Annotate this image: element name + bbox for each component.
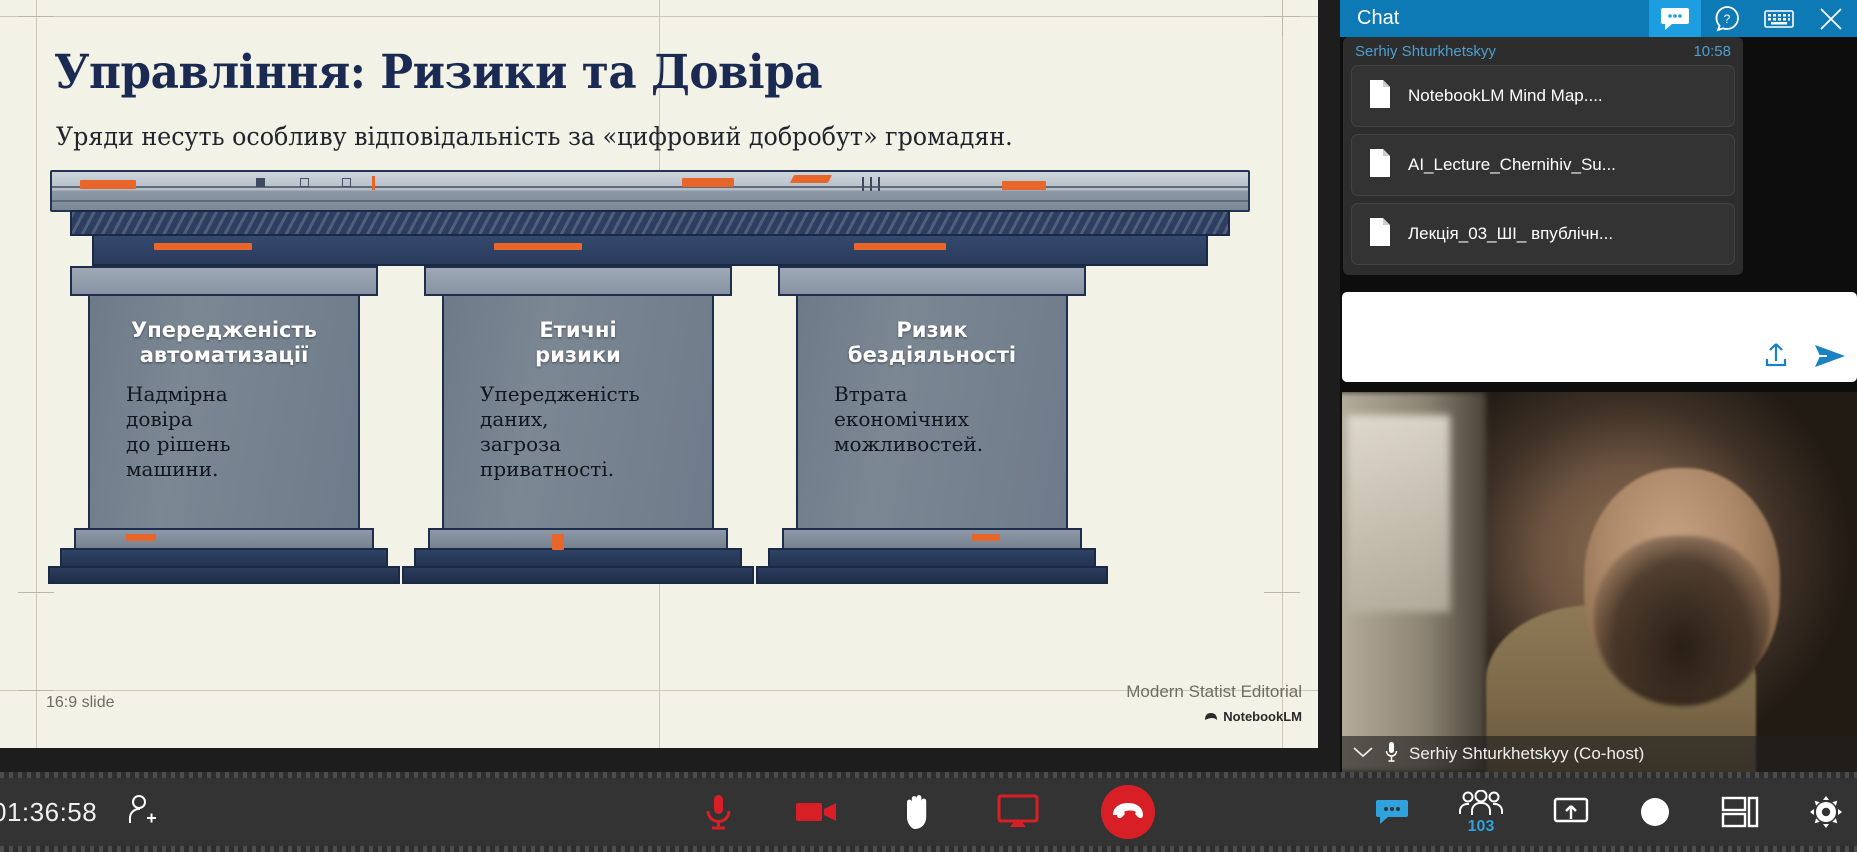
chat-input-box[interactable]: [1342, 292, 1857, 382]
keyboard-icon[interactable]: [1753, 0, 1805, 37]
guide-line: [0, 690, 1318, 691]
guide-line: [36, 0, 37, 748]
chat-icon: [1375, 798, 1409, 826]
file-attachment[interactable]: Лекція_03_ШІ_ впублічн...: [1351, 203, 1735, 265]
architrave-lower: [92, 234, 1208, 266]
shared-screen-stage[interactable]: Управління: Ризики та Довіра Уряди несут…: [0, 0, 1340, 772]
screen-share-button[interactable]: [997, 794, 1039, 830]
chat-panel-header: Chat ?: [1340, 0, 1857, 37]
record-icon: [1639, 796, 1671, 828]
pillar-inaction-risk: Ризикбездіяльності Втратаекономічнихможл…: [796, 266, 1068, 584]
pillar-heading: Ризикбездіяльності: [796, 318, 1068, 368]
meeting-window: Управління: Ризики та Довіра Уряди несут…: [0, 0, 1857, 852]
settings-gear-icon: [1809, 795, 1843, 829]
video-person-beard: [1594, 536, 1770, 706]
help-glyph: ?: [1713, 5, 1741, 33]
upload-glyph: [1761, 341, 1791, 371]
notebooklm-watermark: NotebookLM: [1204, 709, 1302, 724]
notebooklm-label: NotebookLM: [1223, 709, 1302, 724]
pillar-ethical-risks: Етичніризики Упередженістьданих,загрозап…: [442, 266, 714, 584]
camera-icon: [795, 798, 839, 826]
document-icon: [1368, 217, 1392, 252]
participants-icon: [1459, 790, 1503, 818]
slide-title: Управління: Ризики та Довіра: [54, 45, 822, 100]
microphone-glyph: [1384, 741, 1399, 763]
chat-button[interactable]: [1375, 798, 1409, 826]
participants-button[interactable]: 103: [1459, 790, 1503, 834]
guide-tick: [18, 690, 54, 691]
send-glyph: [1813, 342, 1847, 370]
architrave-band: [70, 210, 1230, 236]
microphone-icon[interactable]: [1384, 741, 1399, 768]
layout-button[interactable]: [1721, 796, 1759, 828]
file-name: NotebookLM Mind Map....: [1408, 86, 1603, 106]
settings-button[interactable]: [1809, 795, 1843, 829]
end-call-icon: [1111, 801, 1145, 823]
guide-line: [1282, 0, 1283, 748]
guide-tick: [1282, 0, 1283, 36]
entablature: [50, 170, 1250, 212]
share-button[interactable]: [1553, 797, 1589, 827]
help-icon[interactable]: ?: [1701, 0, 1753, 37]
toolbar-right-group: 103: [1375, 772, 1843, 852]
video-name-bar: Serhiy Shturkhetskyy (Co-host): [1342, 736, 1857, 772]
guide-tick: [18, 16, 54, 17]
close-glyph: [1818, 6, 1844, 32]
meeting-toolbar: 01:36:58: [0, 772, 1857, 852]
participant-name: Serhiy Shturkhetskyy (Co-host): [1409, 744, 1644, 764]
upload-icon[interactable]: [1761, 341, 1791, 376]
chat-bubble-glyph: [1660, 6, 1690, 32]
send-icon[interactable]: [1813, 342, 1847, 375]
microphone-button[interactable]: [703, 792, 733, 832]
participants-count: 103: [1468, 820, 1495, 834]
file-name: AI_Lecture_Chernihiv_Su...: [1408, 155, 1616, 175]
slide-footer-right: Modern Statist Editorial: [1126, 682, 1302, 702]
layout-icon: [1721, 796, 1759, 828]
camera-button[interactable]: [795, 798, 839, 826]
document-icon: [1368, 79, 1392, 114]
share-icon: [1553, 797, 1589, 827]
file-attachment[interactable]: NotebookLM Mind Map....: [1351, 65, 1735, 127]
record-button[interactable]: [1639, 796, 1671, 828]
pillar-body: Втратаекономічнихможливостей.: [796, 382, 1068, 457]
temple-illustration: Упередженістьавтоматизації Надмірнадовір…: [40, 170, 1270, 650]
pillar-heading: Етичніризики: [442, 318, 714, 368]
message-time: 10:58: [1693, 43, 1731, 60]
raise-hand-icon: [901, 793, 935, 831]
raise-hand-button[interactable]: [901, 793, 935, 831]
slide-subtitle: Уряди несуть особливу відповідальність з…: [56, 122, 1013, 151]
chat-bubble-icon[interactable]: [1649, 0, 1701, 37]
svg-text:?: ?: [1724, 12, 1731, 26]
file-name: Лекція_03_ШІ_ впублічн...: [1408, 224, 1613, 244]
guide-line: [0, 16, 1318, 17]
microphone-icon: [703, 792, 733, 832]
presentation-slide: Управління: Ризики та Довіра Уряди несут…: [0, 0, 1318, 748]
file-attachment[interactable]: AI_Lecture_Chernihiv_Su...: [1351, 134, 1735, 196]
notebooklm-icon: [1204, 711, 1218, 723]
pillar-body: Упередженістьданих,загрозаприватності.: [442, 382, 714, 482]
document-icon: [1368, 148, 1392, 183]
slide-footer-left: 16:9 slide: [46, 694, 115, 712]
close-icon[interactable]: [1805, 0, 1857, 37]
chat-compose-area: [1340, 287, 1857, 387]
guide-tick: [1264, 16, 1300, 17]
chevron-down-icon[interactable]: [1352, 745, 1374, 764]
pillar-automation-bias: Упередженістьавтоматизації Надмірнадовір…: [88, 266, 360, 584]
chevron-down-glyph: [1352, 745, 1374, 759]
pillar-body: Надмірнадовірадо рішеньмашини.: [88, 382, 360, 482]
chat-message-list[interactable]: Serhiy Shturkhetskyy 10:58 NotebookLM Mi…: [1340, 37, 1857, 287]
video-background-window: [1347, 415, 1450, 613]
participant-video-tile[interactable]: Serhiy Shturkhetskyy (Co-host): [1342, 392, 1857, 772]
keyboard-glyph: [1764, 8, 1794, 30]
pillar-heading: Упередженістьавтоматизації: [88, 318, 360, 368]
screen-share-icon: [997, 794, 1039, 830]
chat-message: Serhiy Shturkhetskyy 10:58 NotebookLM Mi…: [1343, 37, 1743, 275]
message-author: Serhiy Shturkhetskyy: [1355, 43, 1496, 60]
chat-panel-title: Chat: [1340, 7, 1649, 30]
end-call-button[interactable]: [1101, 785, 1155, 839]
